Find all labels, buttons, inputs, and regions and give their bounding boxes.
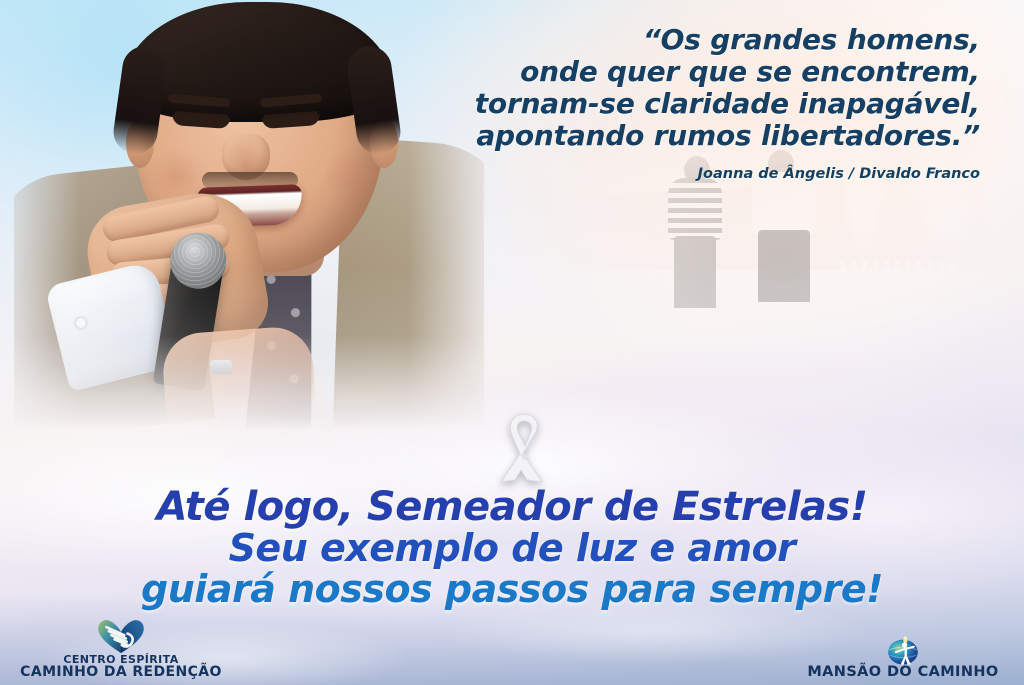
hands-heart-icon (6, 619, 236, 653)
hair (122, 2, 394, 122)
finger-ring (210, 360, 232, 374)
caption-line-2: CAMINHO DA REDENÇÃO (6, 666, 236, 679)
headline-line-3: guiará nossos passos para sempre! (0, 568, 1024, 610)
quote-line-1: “Os grandes homens, (420, 24, 980, 56)
memorial-poster: “Os grandes homens, onde quer que se enc… (0, 0, 1024, 685)
footer-logo-centro-espirita: CENTRO ESPÍRITA CAMINHO DA REDENÇÃO (6, 619, 236, 679)
headline-line-2: Seu exemplo de luz e amor (0, 528, 1024, 568)
quote-attribution: Joanna de Ângelis / Divaldo Franco (420, 166, 980, 182)
globe-figure-icon (788, 632, 1018, 666)
hand-holding-microphone (161, 325, 318, 435)
quote-line-4: apontando rumos libertadores.” (420, 120, 980, 152)
quote-line-2: onde quer que se encontrem, (420, 56, 980, 88)
footer-logo-right-caption: MANSÃO DO CAMINHO (788, 666, 1018, 679)
cuff-button (76, 318, 86, 328)
portrait-photo (14, 0, 484, 430)
quote-block: “Os grandes homens, onde quer que se enc… (420, 24, 980, 182)
quote-line-3: tornam-se claridade inapagável, (420, 88, 980, 120)
white-ribbon-icon (487, 408, 561, 488)
headline-line-1: Até logo, Semeador de Estrelas! (0, 486, 1024, 528)
footer-logo-left-caption: CENTRO ESPÍRITA CAMINHO DA REDENÇÃO (6, 653, 236, 679)
caption-line: MANSÃO DO CAMINHO (788, 666, 1018, 679)
footer-logo-mansao-do-caminho: MANSÃO DO CAMINHO (788, 632, 1018, 679)
headline-block: Até logo, Semeador de Estrelas! Seu exem… (0, 486, 1024, 610)
